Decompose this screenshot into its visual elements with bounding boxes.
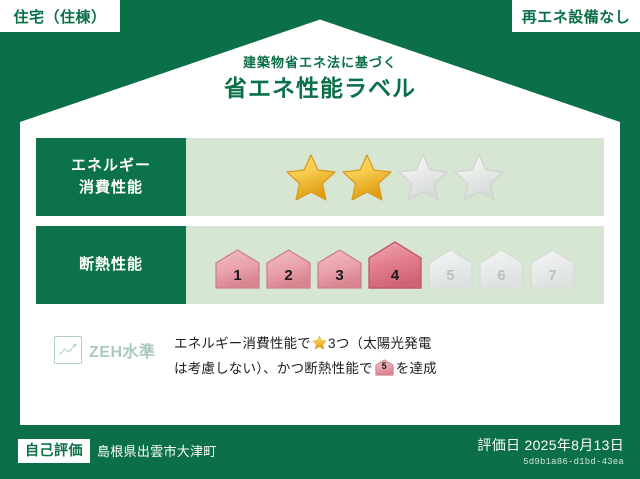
energy-label-line2: 消費性能	[79, 177, 143, 199]
note-text-part3: は考慮しない）、かつ断熱性能で	[174, 361, 373, 376]
renewable-equipment-tag: 再エネ設備なし	[512, 0, 640, 32]
star-icon	[285, 152, 337, 202]
insulation-level-5: 5	[427, 248, 474, 290]
insulation-level-scale: 1 2 3	[214, 240, 576, 290]
page-title: 省エネ性能ラベル	[0, 75, 640, 103]
star-icon-inline	[312, 335, 327, 350]
zeh-chart-icon	[54, 336, 82, 364]
note-text-part2: 3つ（太陽光発電	[328, 336, 432, 351]
title-block: 建築物省エネ法に基づく 省エネ性能ラベル	[0, 55, 640, 102]
insulation-scale-body: 1 2 3	[186, 226, 604, 304]
insulation-level-7: 7	[529, 248, 576, 290]
energy-performance-row: エネルギー 消費性能	[36, 138, 604, 216]
zeh-note-block: ZEH水準 エネルギー消費性能で 3つ（太陽光発電 は考慮しない）、かつ断熱性能…	[36, 318, 604, 410]
building-type-tag: 住宅（住棟）	[0, 0, 120, 32]
note-text-part1: エネルギー消費性能で	[174, 336, 311, 351]
note-text-part4: を達成	[396, 361, 437, 376]
address-text: 島根県出雲市大津町	[97, 441, 217, 460]
label-header: 住宅（住棟） 再エネ設備なし 建築物省エネ法に基づく 省エネ性能ラベル	[0, 0, 640, 122]
zeh-standard-label: ZEH水準	[89, 338, 156, 362]
label-card: エネルギー 消費性能	[20, 122, 620, 425]
title-subtitle: 建築物省エネ法に基づく	[0, 55, 640, 71]
label-uid: 5d9b1a86-d1bd-43ea	[477, 457, 624, 467]
insulation-performance-label: 断熱性能	[36, 226, 186, 304]
evaluation-date: 評価日 2025年8月13日	[477, 435, 624, 455]
star-icon-empty	[453, 152, 505, 202]
house-badge-number: 5	[375, 358, 394, 375]
insulation-level-2: 2	[265, 248, 312, 290]
footer-left-block: 自己評価 島根県出雲市大津町	[18, 439, 217, 463]
energy-performance-label: エネルギー 消費性能	[36, 138, 186, 216]
insulation-performance-row: 断熱性能	[36, 226, 604, 304]
insulation-level-6: 6	[478, 248, 525, 290]
star-rating	[285, 152, 505, 202]
energy-rating-body	[186, 138, 604, 216]
star-icon-empty	[397, 152, 449, 202]
self-evaluation-badge: 自己評価	[18, 439, 90, 463]
energy-label-line1: エネルギー	[71, 155, 151, 177]
achievement-description: エネルギー消費性能で 3つ（太陽光発電 は考慮しない）、かつ断熱性能で 5 を達…	[174, 332, 604, 382]
star-icon	[341, 152, 393, 202]
zeh-standard-marker: ZEH水準	[54, 336, 174, 364]
footer-right-block: 評価日 2025年8月13日 5d9b1a86-d1bd-43ea	[477, 435, 624, 467]
house-badge-inline: 5	[375, 359, 394, 376]
insulation-label-line1: 断熱性能	[79, 254, 143, 276]
energy-label-root: 住宅（住棟） 再エネ設備なし 建築物省エネ法に基づく 省エネ性能ラベル エネルギ…	[0, 0, 640, 479]
insulation-level-1: 1	[214, 248, 261, 290]
label-footer: 自己評価 島根県出雲市大津町 評価日 2025年8月13日 5d9b1a86-d…	[0, 425, 640, 479]
insulation-level-3: 3	[316, 248, 363, 290]
insulation-level-4-active: 4	[367, 240, 423, 290]
